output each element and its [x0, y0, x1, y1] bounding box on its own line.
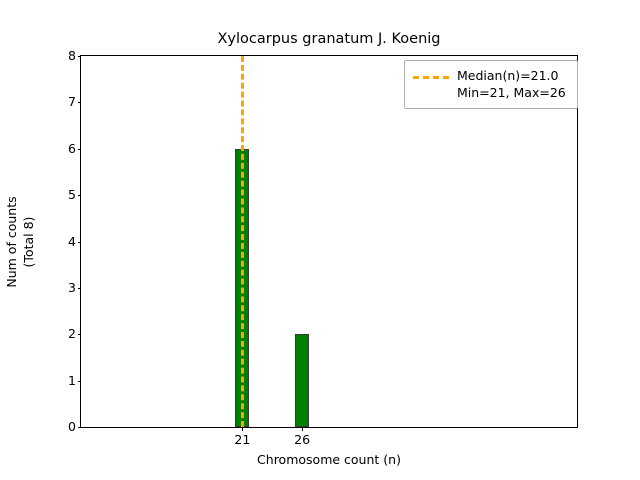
y-tick-mark — [78, 334, 82, 335]
legend-entry-median: Median(n)=21.0 — [413, 67, 569, 84]
plot-area: 0123456782126 — [80, 55, 578, 428]
y-axis-label-wrap: Num of counts (Total 8) — [0, 55, 40, 428]
legend-entry-median-label: Median(n)=21.0 — [457, 68, 558, 83]
y-tick-mark — [78, 288, 82, 289]
legend-entry-minmax: Min=21, Max=26 — [413, 84, 569, 101]
legend-box: Median(n)=21.0 Min=21, Max=26 — [404, 60, 578, 109]
x-axis-label: Chromosome count (n) — [80, 452, 578, 467]
y-tick-label: 6 — [68, 143, 76, 156]
y-tick-label: 4 — [68, 235, 76, 248]
y-tick-label: 3 — [68, 282, 76, 295]
y-tick-label: 2 — [68, 328, 76, 341]
bar — [295, 334, 309, 427]
median-line — [241, 56, 244, 427]
y-tick-mark — [78, 427, 82, 428]
y-axis-label: Num of counts (Total 8) — [3, 196, 37, 287]
x-tick-label: 21 — [234, 433, 250, 447]
y-tick-mark — [78, 195, 82, 196]
x-tick-mark — [302, 427, 303, 431]
y-tick-mark — [78, 102, 82, 103]
y-tick-mark — [78, 242, 82, 243]
y-tick-mark — [78, 56, 82, 57]
plot-inner — [81, 56, 577, 427]
y-tick-mark — [78, 381, 82, 382]
y-tick-label: 1 — [68, 374, 76, 387]
y-tick-label: 5 — [68, 189, 76, 202]
legend-sample-spacer — [413, 87, 449, 99]
figure-canvas: Xylocarpus granatum J. Koenig 0123456782… — [0, 0, 640, 480]
y-axis-label-line1: Num of counts — [4, 196, 19, 287]
x-tick-label: 26 — [294, 433, 310, 447]
legend-entry-minmax-label: Min=21, Max=26 — [457, 85, 566, 100]
y-tick-label: 8 — [68, 50, 76, 63]
y-tick-mark — [78, 149, 82, 150]
y-axis-label-line2: (Total 8) — [20, 196, 37, 287]
chart-title: Xylocarpus granatum J. Koenig — [80, 30, 578, 48]
y-tick-label: 0 — [68, 421, 76, 434]
x-tick-mark — [242, 427, 243, 431]
y-tick-label: 7 — [68, 96, 76, 109]
dashed-line-icon — [413, 70, 449, 82]
